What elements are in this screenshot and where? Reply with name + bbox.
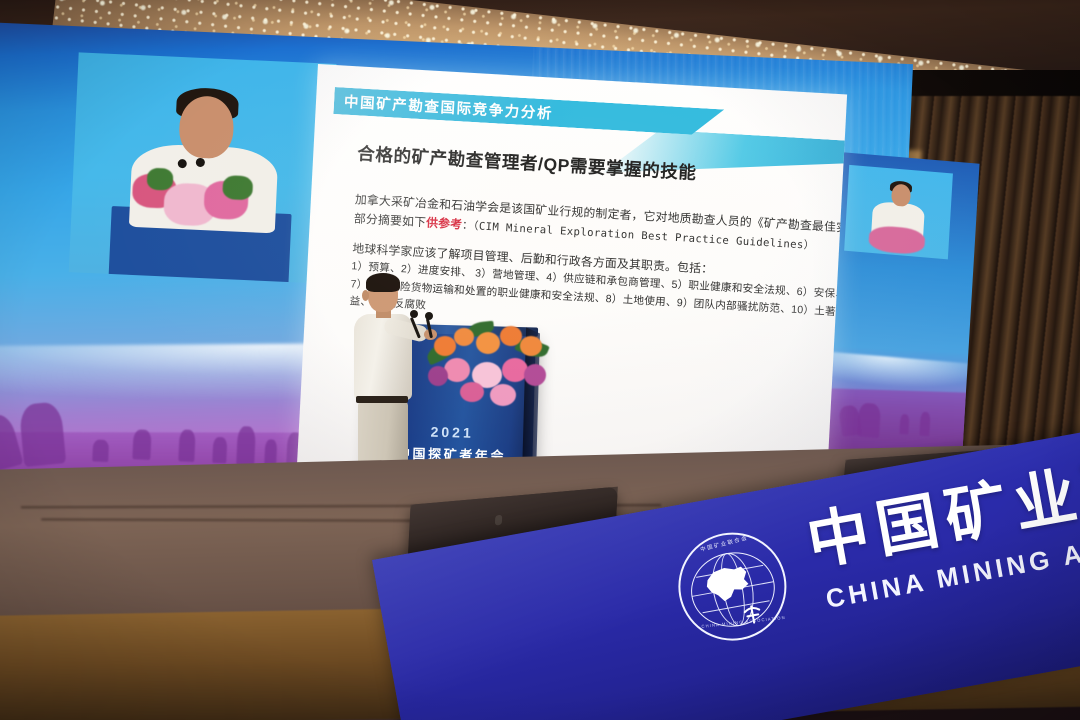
flower-bloom bbox=[454, 328, 474, 346]
miner-silhouette bbox=[857, 402, 881, 438]
feed-flowers bbox=[147, 168, 174, 191]
miner-silhouette bbox=[132, 429, 151, 460]
microphone-head bbox=[410, 310, 418, 318]
miner-silhouette bbox=[178, 429, 195, 462]
flower-bloom bbox=[524, 364, 546, 386]
flower-bloom bbox=[490, 384, 516, 406]
flower-bloom bbox=[460, 382, 484, 402]
flower-bloom bbox=[444, 358, 470, 382]
flower-arrangement bbox=[424, 318, 550, 414]
feed-flowers bbox=[222, 175, 253, 200]
flower-bloom bbox=[428, 366, 448, 386]
china-mining-association-emblem-icon: 中国矿业联合会 CHINA MINING ASSOCIATION bbox=[670, 524, 795, 649]
flower-bloom bbox=[520, 336, 542, 356]
speaker-ear bbox=[362, 290, 369, 301]
miner-silhouette bbox=[899, 414, 909, 435]
slide-header-text: 中国矿产勘查国际竞争力分析 bbox=[334, 90, 554, 124]
miner-silhouette bbox=[212, 437, 227, 464]
slide-header-band: 中国矿产勘查国际竞争力分析 bbox=[333, 87, 724, 136]
miner-silhouette bbox=[236, 426, 256, 467]
conference-stage-photo: 中国矿产勘查国际竞争力分析 合格的矿产勘查管理者/QP需要掌握的技能 加拿大采矿… bbox=[0, 0, 1080, 720]
flower-bloom bbox=[434, 336, 456, 356]
flower-bloom bbox=[476, 332, 500, 354]
flower-bloom bbox=[500, 326, 522, 346]
speaker-hair bbox=[366, 273, 400, 292]
right-led-panel bbox=[820, 152, 979, 493]
miner-silhouette bbox=[92, 439, 109, 462]
miner-silhouette bbox=[919, 412, 930, 437]
left-video-feed bbox=[69, 52, 337, 283]
right-video-feed bbox=[844, 165, 953, 260]
speaker-belt bbox=[356, 396, 408, 403]
slide-highlight-text: 供参考 bbox=[426, 216, 463, 232]
miner-silhouette bbox=[264, 439, 277, 466]
slide-text-prefix: 部分摘要如下 bbox=[354, 211, 427, 229]
